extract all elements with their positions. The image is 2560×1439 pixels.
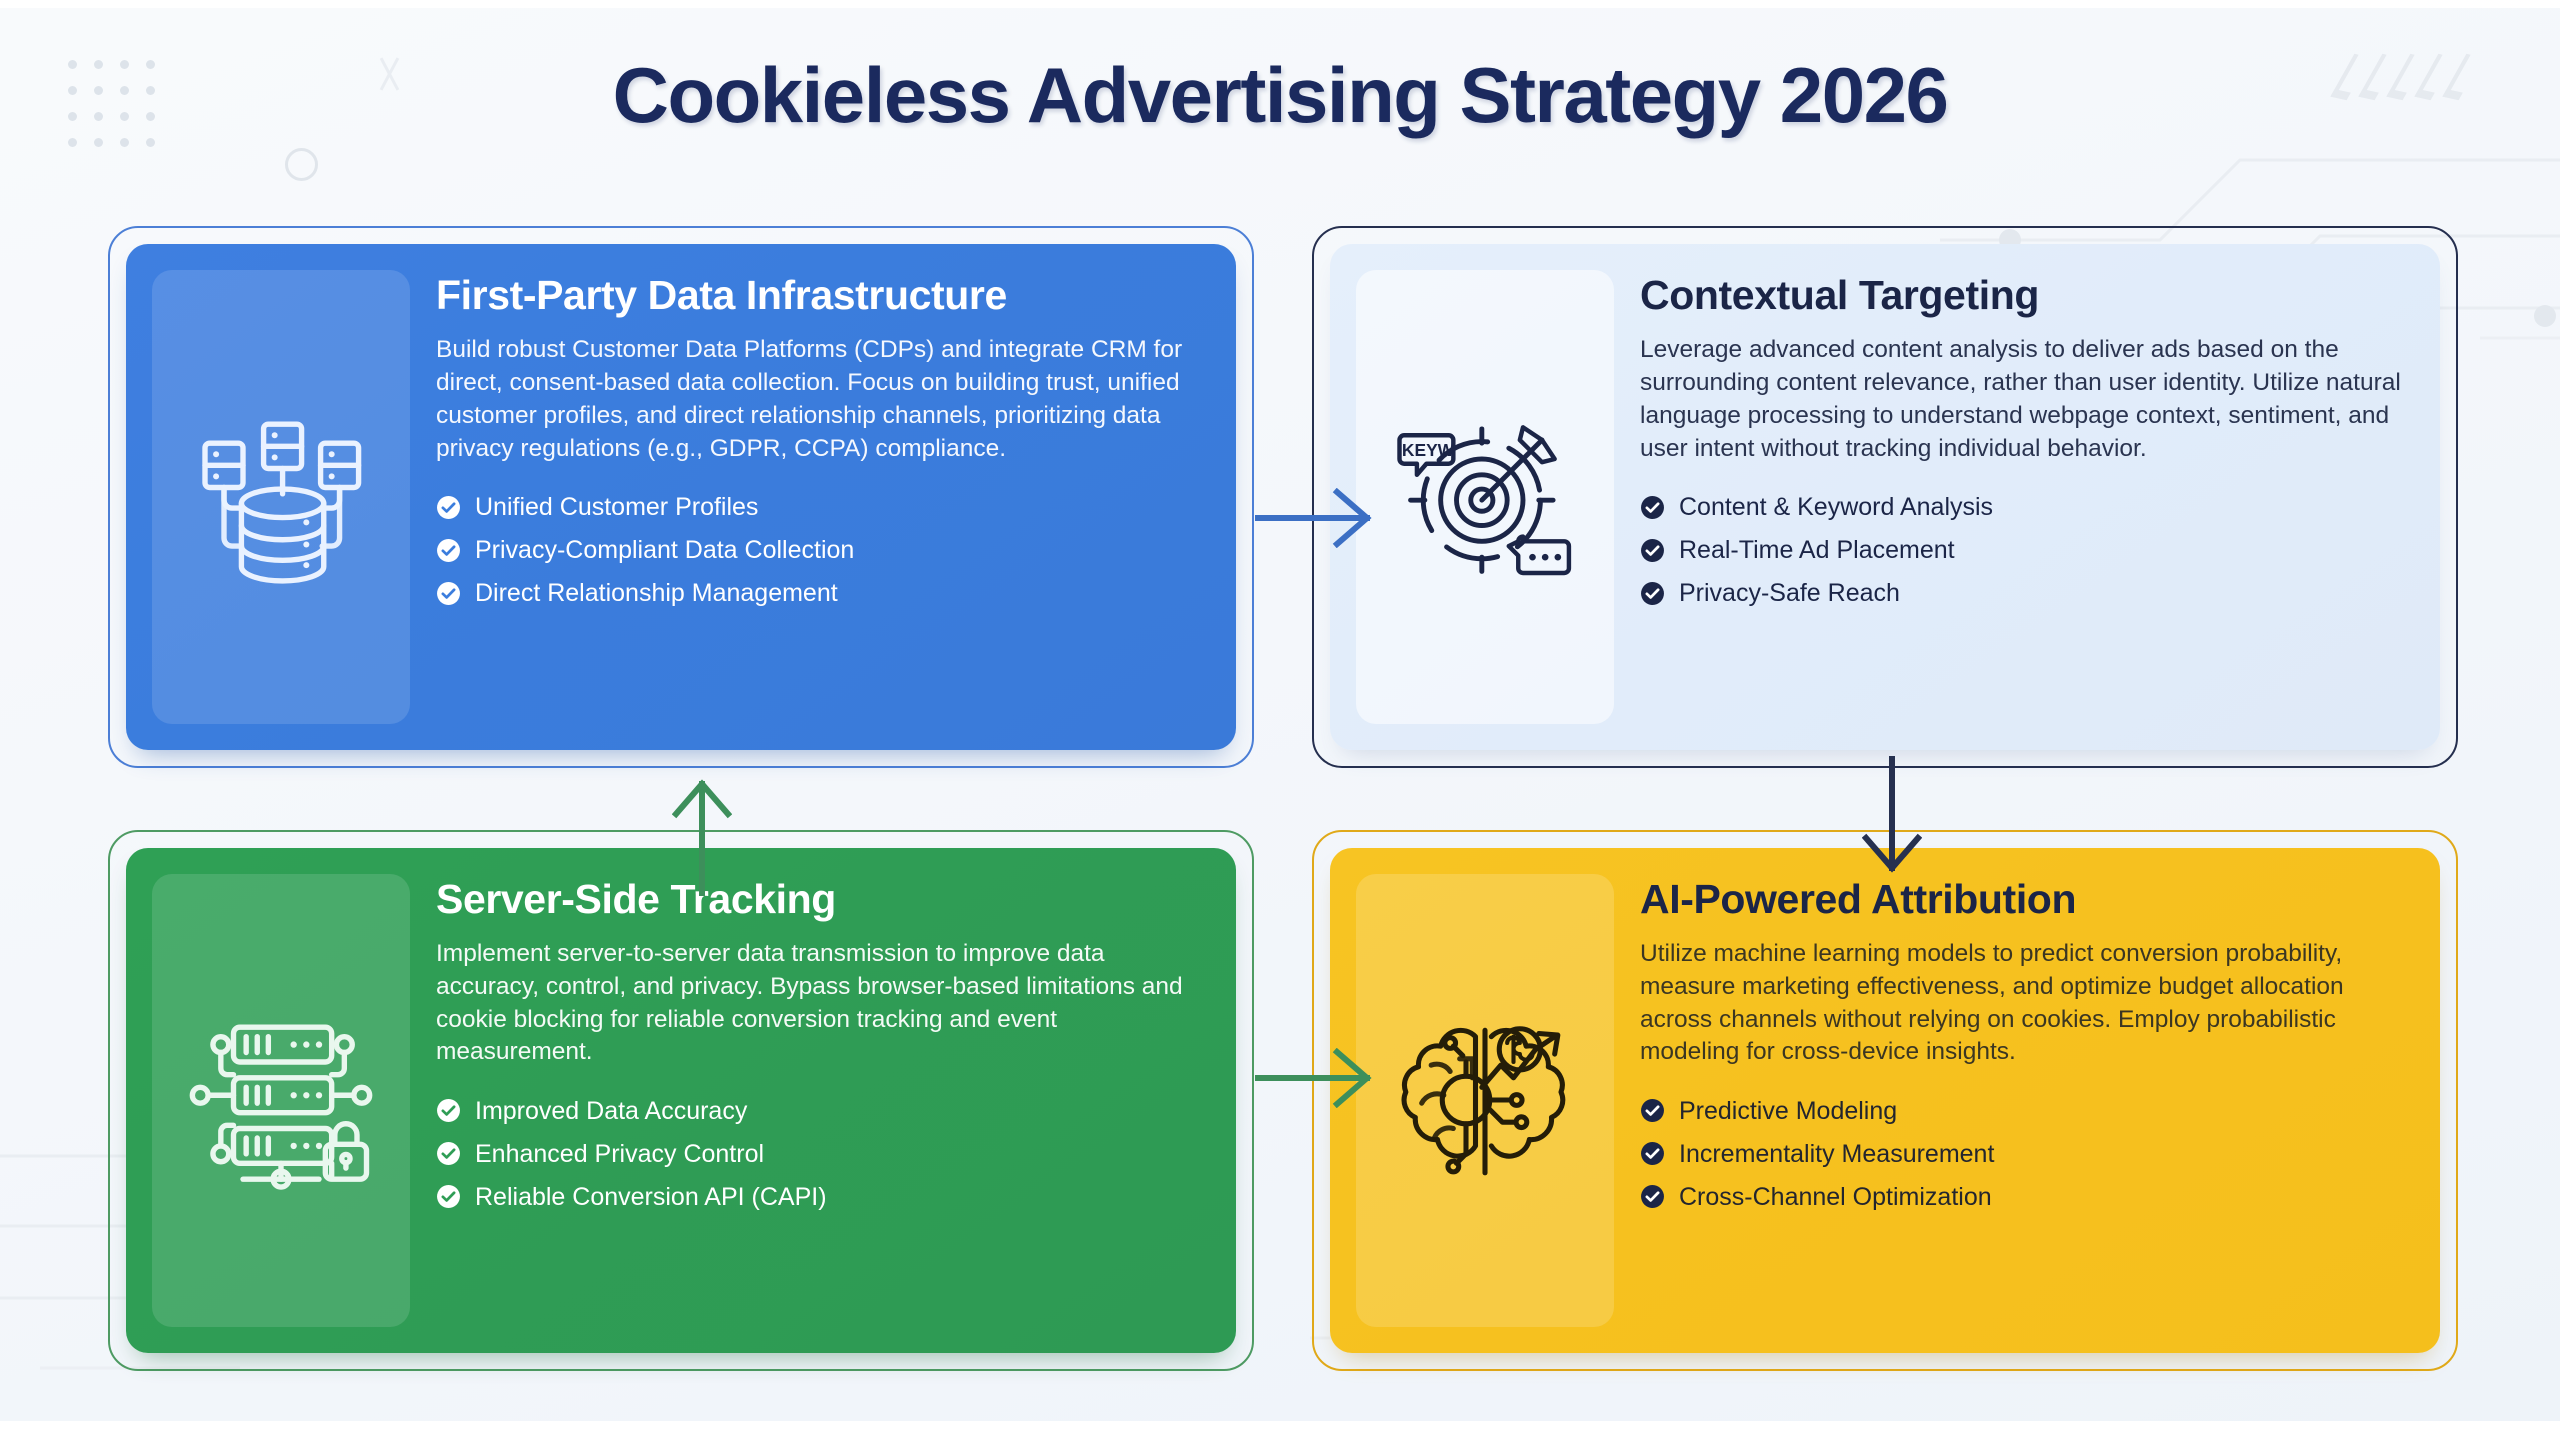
strategy-card-grid: First-Party Data Infrastructure Build ro…	[108, 226, 2458, 1371]
check-circle-icon	[436, 538, 461, 563]
letterbox-top	[0, 0, 2560, 8]
check-circle-icon	[436, 1141, 461, 1166]
feature-label: Predictive Modeling	[1679, 1097, 1897, 1125]
card-description: Implement server-to-server data transmis…	[436, 938, 1206, 1069]
card-server-side-tracking[interactable]: Server-Side Tracking Implement server-to…	[108, 830, 1254, 1372]
card-title: First-Party Data Infrastructure	[436, 274, 1206, 317]
arrow-first-party-to-contextual	[1255, 488, 1385, 548]
arrow-contextual-to-attribution	[1862, 756, 1922, 884]
arrow-server-side-to-first-party	[672, 768, 732, 896]
arrow-server-side-to-attribution	[1255, 1048, 1385, 1108]
feature-label: Unified Customer Profiles	[475, 493, 758, 521]
feature-label: Real-Time Ad Placement	[1679, 536, 1955, 564]
list-item: Cross-Channel Optimization	[1640, 1175, 2410, 1218]
card-description: Utilize machine learning models to predi…	[1640, 938, 2410, 1069]
feature-label: Cross-Channel Optimization	[1679, 1183, 1992, 1211]
feature-list: Unified Customer Profiles Privacy-Compli…	[436, 486, 1206, 615]
card-description: Leverage advanced content analysis to de…	[1640, 334, 2410, 465]
feature-label: Incrementality Measurement	[1679, 1140, 1994, 1168]
check-circle-icon	[436, 581, 461, 606]
letterbox-bottom	[0, 1421, 2560, 1439]
check-circle-icon	[436, 1184, 461, 1209]
list-item: Predictive Modeling	[1640, 1089, 2410, 1132]
feature-label: Direct Relationship Management	[475, 579, 838, 607]
feature-list: Predictive Modeling Incrementality Measu…	[1640, 1089, 2410, 1218]
list-item: Improved Data Accuracy	[436, 1089, 1206, 1132]
card-title: Server-Side Tracking	[436, 878, 1206, 921]
feature-label: Reliable Conversion API (CAPI)	[475, 1183, 827, 1211]
list-item: Reliable Conversion API (CAPI)	[436, 1175, 1206, 1218]
list-item: Enhanced Privacy Control	[436, 1132, 1206, 1175]
check-circle-icon	[1640, 495, 1665, 520]
feature-label: Improved Data Accuracy	[475, 1097, 747, 1125]
page-title: Cookieless Advertising Strategy 2026	[0, 50, 2560, 141]
list-item: Privacy-Safe Reach	[1640, 572, 2410, 615]
keyword-bubble-label: KEYW	[1402, 440, 1455, 460]
feature-label: Enhanced Privacy Control	[475, 1140, 764, 1168]
list-item: Content & Keyword Analysis	[1640, 486, 2410, 529]
server-rack-lock-icon	[152, 874, 410, 1328]
list-item: Unified Customer Profiles	[436, 486, 1206, 529]
feature-list: Improved Data Accuracy Enhanced Privacy …	[436, 1089, 1206, 1218]
card-first-party-data-infrastructure[interactable]: First-Party Data Infrastructure Build ro…	[108, 226, 1254, 768]
infographic-canvas: Cookieless Advertising Strategy 2026	[0, 8, 2560, 1421]
list-item: Real-Time Ad Placement	[1640, 529, 2410, 572]
check-circle-icon	[1640, 1141, 1665, 1166]
check-circle-icon	[436, 495, 461, 520]
feature-label: Privacy-Safe Reach	[1679, 579, 1900, 607]
check-circle-icon	[1640, 1184, 1665, 1209]
list-item: Direct Relationship Management	[436, 572, 1206, 615]
feature-label: Privacy-Compliant Data Collection	[475, 536, 854, 564]
card-title: Contextual Targeting	[1640, 274, 2410, 317]
card-description: Build robust Customer Data Platforms (CD…	[436, 334, 1206, 465]
card-ai-powered-attribution[interactable]: AI-Powered Attribution Utilize machine l…	[1312, 830, 2458, 1372]
check-circle-icon	[1640, 1098, 1665, 1123]
list-item: Incrementality Measurement	[1640, 1132, 2410, 1175]
database-network-icon	[152, 270, 410, 724]
feature-list: Content & Keyword Analysis Real-Time Ad …	[1640, 486, 2410, 615]
feature-label: Content & Keyword Analysis	[1679, 493, 1993, 521]
target-arrow-keyword-icon: KEYW	[1356, 270, 1614, 724]
card-contextual-targeting[interactable]: KEYW Contextual Targeting Leverage advan…	[1312, 226, 2458, 768]
check-circle-icon	[1640, 581, 1665, 606]
brain-circuit-growth-icon	[1356, 874, 1614, 1328]
check-circle-icon	[436, 1098, 461, 1123]
card-title: AI-Powered Attribution	[1640, 878, 2410, 921]
check-circle-icon	[1640, 538, 1665, 563]
list-item: Privacy-Compliant Data Collection	[436, 529, 1206, 572]
